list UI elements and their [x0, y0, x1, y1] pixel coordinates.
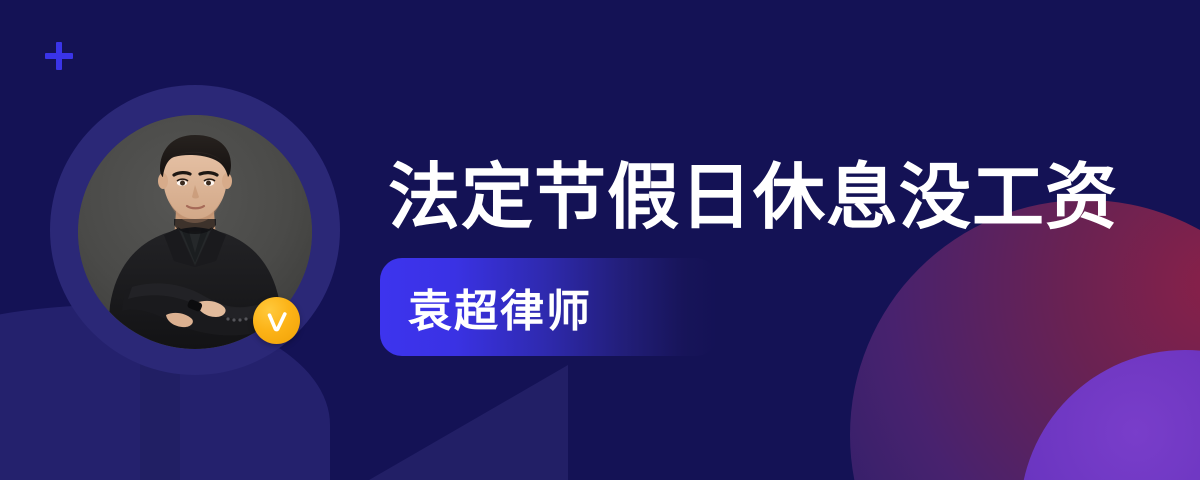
- promo-banner: 法定节假日休息没工资 袁超律师: [0, 0, 1200, 480]
- crimson-circle-shape: [850, 200, 1200, 480]
- plus-icon-vertical-bar: [56, 42, 62, 70]
- plus-icon-horizontal-bar: [45, 53, 73, 59]
- lawyer-name-label: 袁超律师: [408, 275, 592, 339]
- avatar[interactable]: [50, 85, 340, 375]
- purple-circle-shape: [1020, 350, 1200, 480]
- lawyer-name-badge[interactable]: 袁超律师: [380, 258, 718, 356]
- plus-icon: [45, 42, 73, 70]
- angular-wedge-shape: [148, 365, 568, 480]
- verified-v-badge-icon: [253, 297, 300, 344]
- page-title: 法定节假日休息没工资: [388, 156, 1118, 240]
